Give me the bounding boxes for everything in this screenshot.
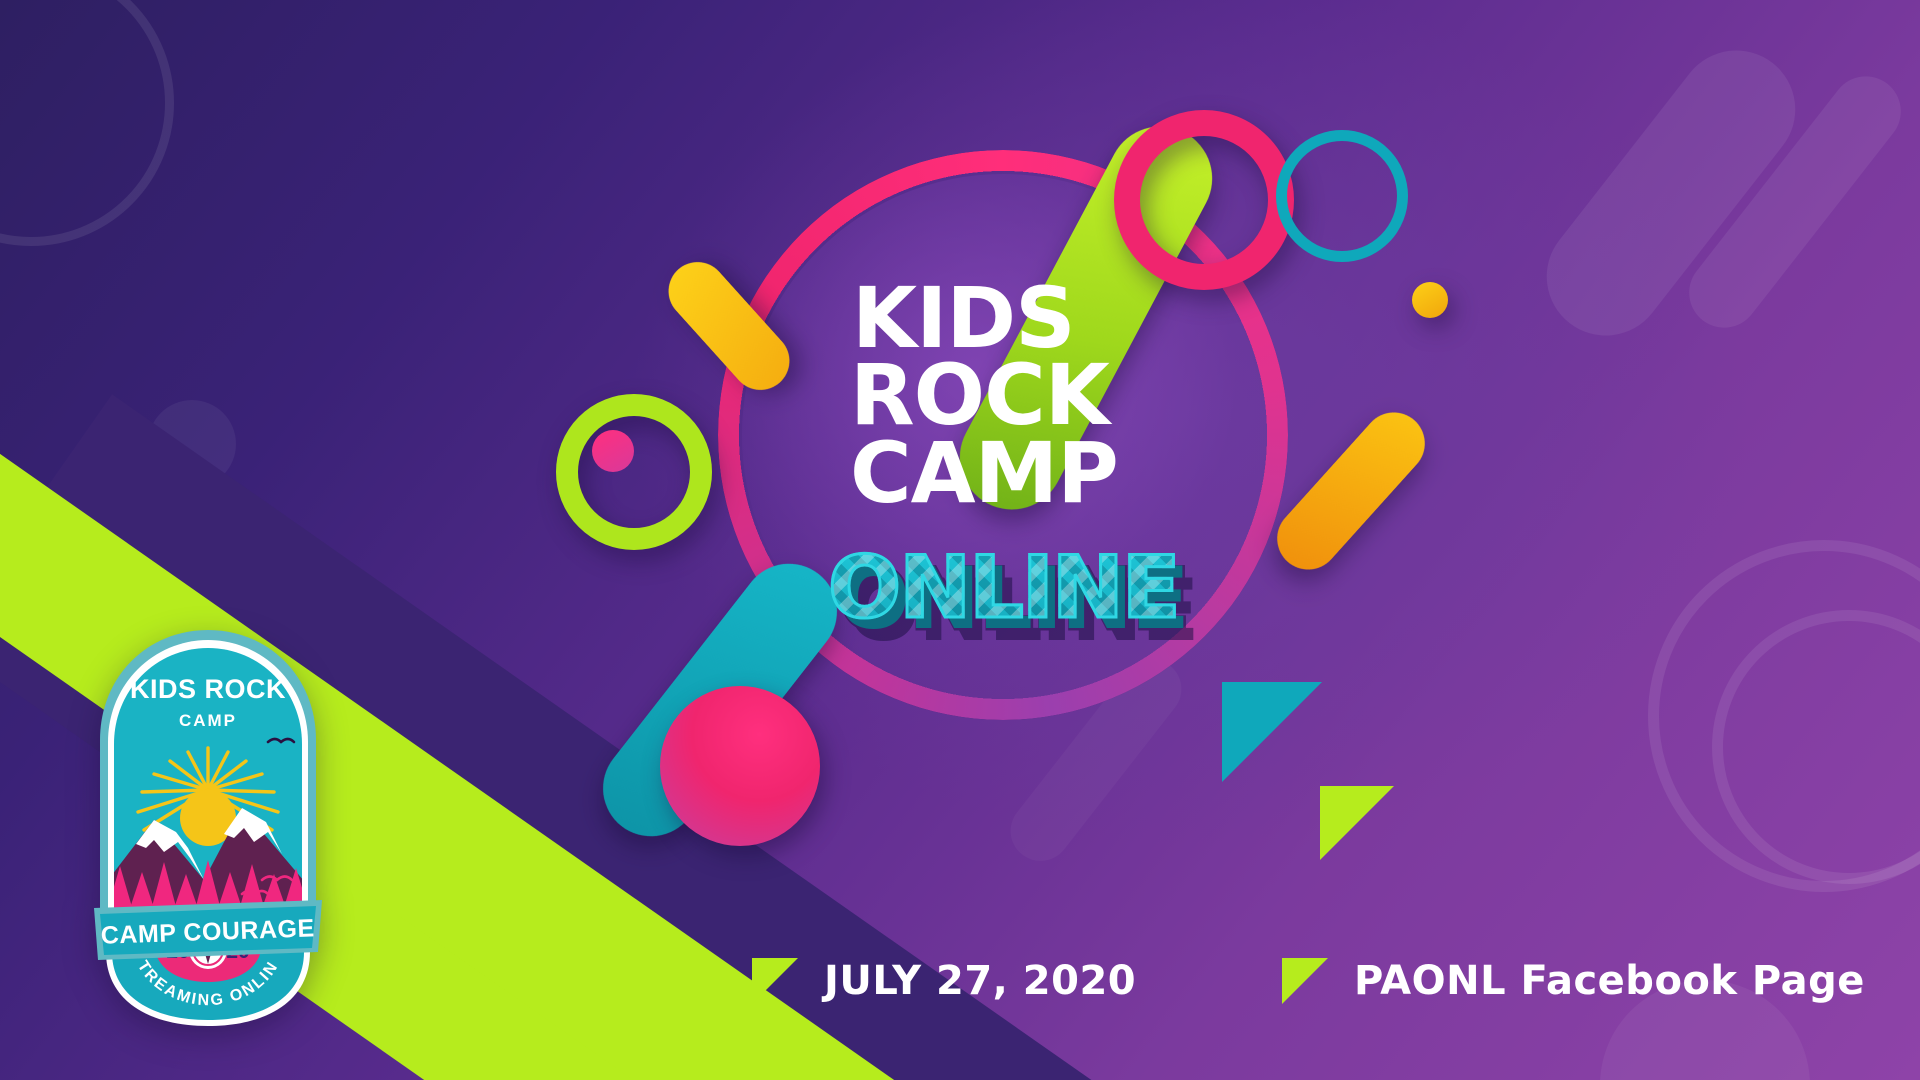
pink-dot-in-green-ring bbox=[592, 430, 634, 472]
green-ring-left bbox=[556, 394, 712, 550]
pink-ring-top bbox=[1114, 110, 1294, 290]
green-triangle-right bbox=[1320, 786, 1394, 860]
yellow-dot bbox=[1412, 282, 1448, 318]
online-wordmark-text: ONLINE bbox=[828, 538, 1179, 638]
badge-banner: CAMP COURAGE bbox=[94, 900, 322, 972]
green-triangle-icon-channel bbox=[1282, 958, 1328, 1004]
bg-ring-top-left bbox=[0, 0, 174, 246]
footer-channel-group: PAONL Facebook Page bbox=[1282, 958, 1865, 1004]
badge-title-sub: CAMP bbox=[179, 711, 237, 730]
teal-ring-top-right bbox=[1276, 130, 1408, 262]
footer-date-group: JULY 27, 2020 bbox=[752, 958, 1136, 1004]
promo-poster: KIDS ROCK CAMP ONLINE ONLINE JULY 27, 20… bbox=[0, 0, 1920, 1080]
camp-badge-logo: KIDS ROCK CAMP 20 20 CAMP CO bbox=[92, 622, 324, 1034]
online-wordmark: ONLINE ONLINE bbox=[828, 538, 1179, 638]
headline-line-2: ROCK bbox=[850, 357, 1310, 434]
headline-line-3: CAMP bbox=[850, 435, 1310, 512]
teal-triangle bbox=[1222, 682, 1322, 782]
event-date: JULY 27, 2020 bbox=[824, 958, 1136, 1004]
badge-title-top: KIDS ROCK bbox=[130, 674, 286, 704]
headline: KIDS ROCK CAMP bbox=[850, 280, 1310, 512]
broadcast-channel: PAONL Facebook Page bbox=[1354, 958, 1865, 1004]
pink-circle-center bbox=[660, 686, 820, 846]
green-triangle-icon-date bbox=[752, 958, 798, 1004]
